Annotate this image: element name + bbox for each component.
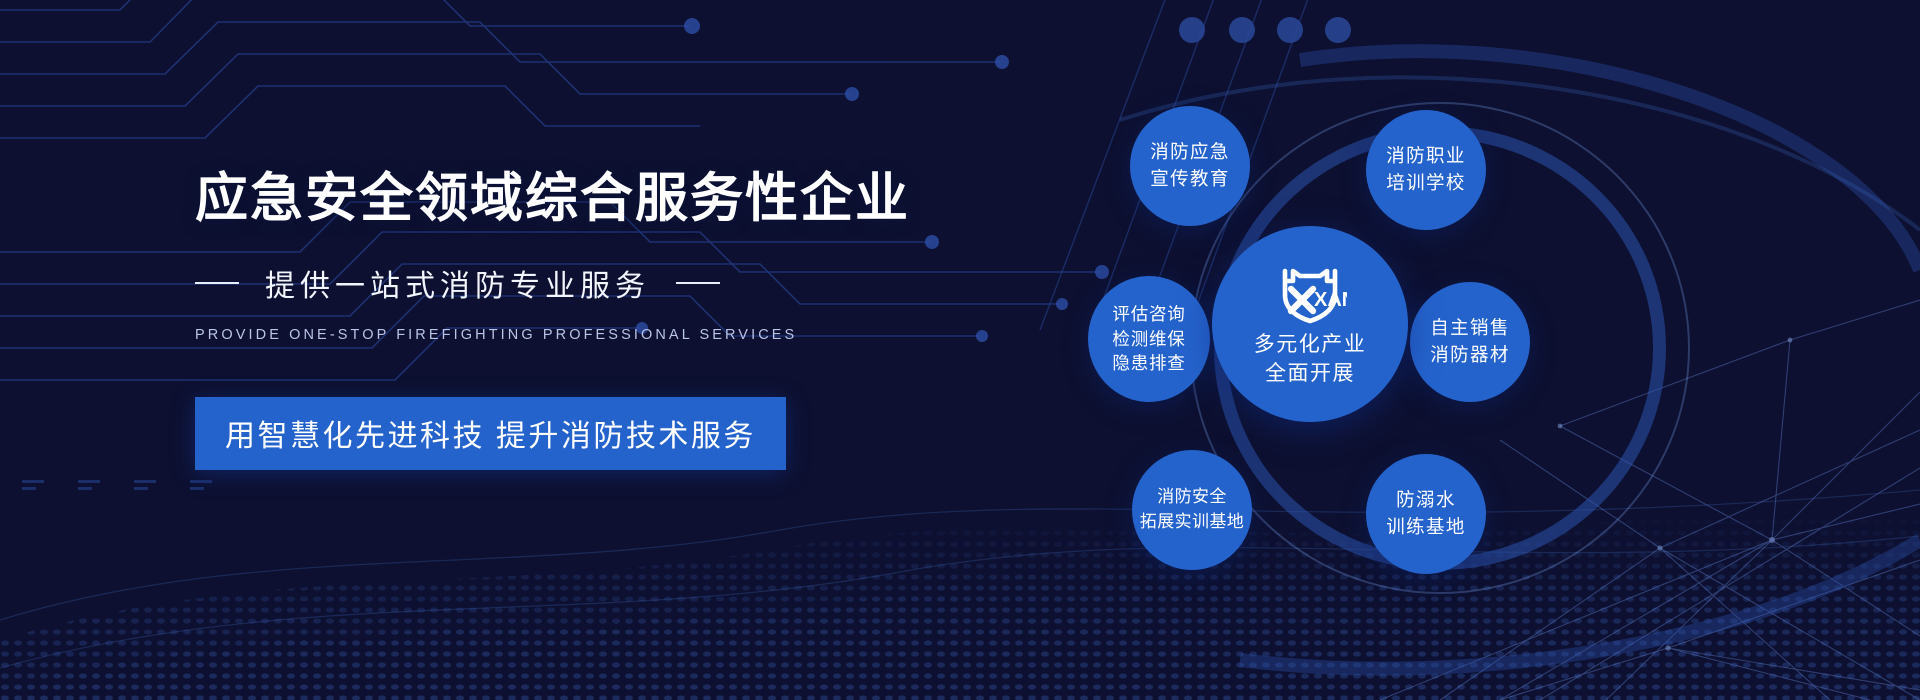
bubble-line-2: 培训学校 bbox=[1386, 170, 1466, 197]
bubble-assessment-inspection[interactable]: 评估咨询 检测维保 隐患排查 bbox=[1088, 276, 1210, 402]
dash-right-decoration bbox=[676, 282, 720, 284]
subtitle-row: 提供一站式消防专业服务 bbox=[195, 261, 1095, 305]
bubble-line-1: 自主销售 bbox=[1430, 315, 1510, 342]
bubble-line-1: 消防安全 bbox=[1157, 485, 1227, 510]
center-line-2: 全面开展 bbox=[1265, 360, 1355, 389]
bubble-line-3: 隐患排查 bbox=[1112, 351, 1185, 376]
page-title: 应急安全领域综合服务性企业 bbox=[195, 170, 1095, 227]
bubble-line-2: 消防器材 bbox=[1430, 342, 1510, 369]
bubble-line-2: 训练基地 bbox=[1386, 514, 1466, 541]
bubble-safety-training-base[interactable]: 消防安全 拓展实训基地 bbox=[1132, 450, 1252, 570]
bubble-line-1: 消防应急 bbox=[1150, 139, 1230, 166]
english-subtitle: PROVIDE ONE-STOP FIREFIGHTING PROFESSION… bbox=[195, 327, 1095, 343]
dash-left-decoration bbox=[195, 282, 239, 284]
bubble-equipment-sales[interactable]: 自主销售 消防器材 bbox=[1410, 282, 1530, 402]
bubble-line-1: 消防职业 bbox=[1386, 143, 1466, 170]
bubble-line-1: 防溺水 bbox=[1396, 487, 1456, 514]
bubble-vocational-training-school[interactable]: 消防职业 培训学校 bbox=[1366, 110, 1486, 230]
hero-text-block: 应急安全领域综合服务性企业 提供一站式消防专业服务 PROVIDE ONE-ST… bbox=[195, 170, 1095, 470]
bubble-drowning-prevention-base[interactable]: 防溺水 训练基地 bbox=[1366, 454, 1486, 574]
services-circle-diagram: 消防应急 宣传教育 消防职业 培训学校 评估咨询 检测维保 隐患排查 自主销售 … bbox=[1130, 78, 1750, 618]
bubble-line-2: 拓展实训基地 bbox=[1140, 510, 1244, 535]
bubble-fire-emergency-education[interactable]: 消防应急 宣传教育 bbox=[1130, 106, 1250, 226]
bubble-line-1: 评估咨询 bbox=[1112, 302, 1185, 327]
shield-icon: XAN bbox=[1273, 259, 1347, 327]
bubble-line-2: 检测维保 bbox=[1112, 327, 1185, 352]
bubble-center-core[interactable]: XAN 多元化产业 全面开展 bbox=[1212, 226, 1408, 422]
logo-text: XAN bbox=[1314, 289, 1347, 311]
subtitle: 提供一站式消防专业服务 bbox=[265, 261, 650, 305]
cta-banner[interactable]: 用智慧化先进科技 提升消防技术服务 bbox=[195, 397, 786, 470]
center-line-1: 多元化产业 bbox=[1254, 331, 1367, 360]
bubble-line-2: 宣传教育 bbox=[1150, 166, 1230, 193]
hero-banner: 应急安全领域综合服务性企业 提供一站式消防专业服务 PROVIDE ONE-ST… bbox=[0, 0, 1920, 700]
